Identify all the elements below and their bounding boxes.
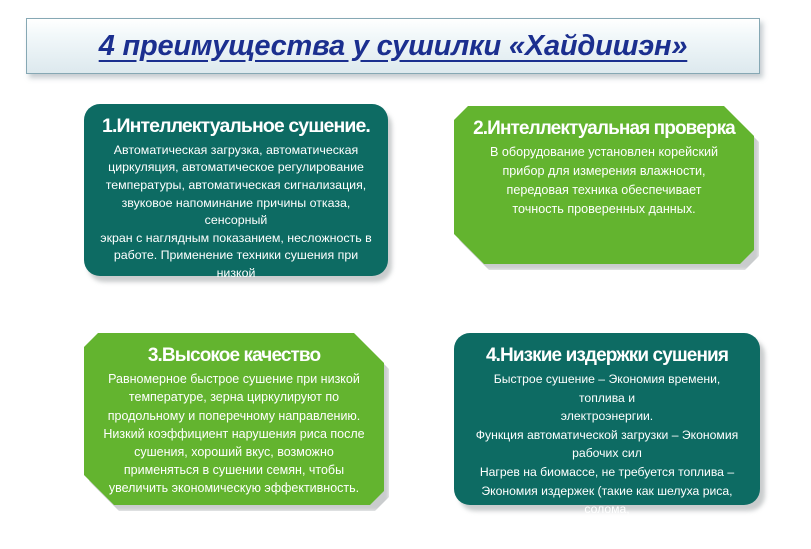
card-4-line: Экономия издержек (такие как шелуха риса… bbox=[470, 482, 744, 519]
card-2-line: В оборудование установлен корейский bbox=[470, 143, 738, 162]
card-3-line: применяться в сушении семян, чтобы bbox=[100, 461, 368, 479]
advantage-card-1: 1.Интеллектуальное сушение. Автоматическ… bbox=[84, 104, 388, 276]
card-1-line: звуковое напоминание причины отказа, сен… bbox=[100, 195, 372, 230]
card-1-line: циркуляция, автоматическое регулирование bbox=[100, 159, 372, 177]
card-4-title: 4.Низкие издержки сушения bbox=[470, 345, 744, 366]
advantage-card-4: 4.Низкие издержки сушения Быстрое сушени… bbox=[454, 333, 760, 505]
card-3-line: Равномерное быстрое сушение при низкой bbox=[100, 370, 368, 388]
advantage-card-3: 3.Высокое качество Равномерное быстрое с… bbox=[84, 333, 384, 505]
card-2-line: прибор для измерения влажности, bbox=[470, 162, 738, 181]
card-4-line: рабочих сил bbox=[470, 444, 744, 463]
card-4-body: Быстрое сушение – Экономия времени, топл… bbox=[470, 370, 744, 537]
card-2-title: 2.Интеллектуальная проверка bbox=[470, 118, 738, 139]
card-1-title: 1.Интеллектуальное сушение. bbox=[100, 116, 372, 138]
card-4-line: Функция автоматической загрузки – Эконом… bbox=[470, 426, 744, 445]
card-1-line: работе. Применение техники сушения при н… bbox=[100, 247, 372, 282]
card-1-line: экран с наглядным показанием, несложност… bbox=[100, 230, 372, 248]
card-4-line: опилки, выжимки сахарного тросника и т.д… bbox=[470, 519, 744, 538]
card-3-line: увеличить экономическую эффективность. bbox=[100, 479, 368, 497]
card-3-title: 3.Высокое качество bbox=[100, 345, 368, 366]
advantage-card-2: 2.Интеллектуальная проверка В оборудован… bbox=[454, 106, 754, 264]
card-2-line: точность проверенных данных. bbox=[470, 200, 738, 219]
card-1-line: температуре и пониженном давлении, что bbox=[100, 283, 372, 301]
card-1-line: температуры, автоматическая сигнализация… bbox=[100, 177, 372, 195]
card-1-line: Автоматическая загрузка, автоматическая bbox=[100, 142, 372, 160]
page-header-banner: 4 преимущества у сушилки «Хайдишэн» bbox=[26, 18, 760, 74]
card-3-line: сушения, хороший вкус, возможно bbox=[100, 443, 368, 461]
card-1-line: обеспечивает равномерный нагрев зерна. bbox=[100, 300, 372, 318]
card-3-line: температуре, зерна циркулируют по bbox=[100, 388, 368, 406]
card-2-line: передовая техника обеспечивает bbox=[470, 181, 738, 200]
card-3-line: Низкий коэффициент нарушения риса после bbox=[100, 425, 368, 443]
page-title: 4 преимущества у сушилки «Хайдишэн» bbox=[99, 30, 688, 63]
card-1-body: Автоматическая загрузка, автоматическая … bbox=[100, 142, 372, 318]
card-3-line: продольному и поперечному направлению. bbox=[100, 407, 368, 425]
card-4-line: Быстрое сушение – Экономия времени, топл… bbox=[470, 370, 744, 407]
card-2-body: В оборудование установлен корейский приб… bbox=[470, 143, 738, 219]
card-4-line: Нагрев на биомассе, не требуется топлива… bbox=[470, 463, 744, 482]
card-4-line: электроэнергии. bbox=[470, 407, 744, 426]
card-3-body: Равномерное быстрое сушение при низкой т… bbox=[100, 370, 368, 497]
